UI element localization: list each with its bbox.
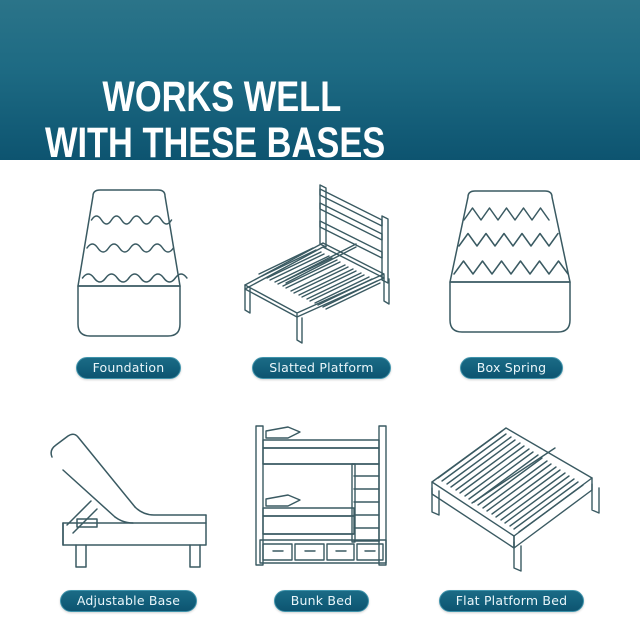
base-label-pill[interactable]: Bunk Bed xyxy=(274,590,369,612)
base-card-flat-platform-bed[interactable]: Flat Platform Bed xyxy=(405,403,618,643)
page-title-line-1: WORKS WELL xyxy=(102,73,341,121)
base-label-pill[interactable]: Box Spring xyxy=(460,357,564,379)
base-card-foundation[interactable]: Foundation xyxy=(22,170,235,410)
mattress-foundation-icon xyxy=(34,172,224,357)
slatted-platform-bed-icon xyxy=(227,172,417,357)
base-label-pill[interactable]: Flat Platform Bed xyxy=(439,590,585,612)
base-label-pill[interactable]: Foundation xyxy=(76,357,182,379)
header-banner: WORKS WELLWITH THESE BASES xyxy=(0,0,640,160)
bases-grid: Foundation xyxy=(0,160,640,640)
page-title-line-2: WITH THESE BASES xyxy=(45,120,385,160)
base-card-slatted-platform[interactable]: Slatted Platform xyxy=(215,170,428,410)
adjustable-base-icon xyxy=(34,405,224,590)
box-spring-icon xyxy=(417,172,607,357)
flat-platform-bed-icon xyxy=(417,405,607,590)
base-label-pill[interactable]: Slatted Platform xyxy=(252,357,390,379)
base-card-box-spring[interactable]: Box Spring xyxy=(405,170,618,410)
bunk-bed-icon xyxy=(227,405,417,590)
infographic-page: WORKS WELLWITH THESE BASES xyxy=(0,0,640,640)
base-card-bunk-bed[interactable]: Bunk Bed xyxy=(215,403,428,643)
base-label-pill[interactable]: Adjustable Base xyxy=(60,590,197,612)
page-title: WORKS WELLWITH THESE BASES xyxy=(45,28,385,160)
base-card-adjustable-base[interactable]: Adjustable Base xyxy=(22,403,235,643)
